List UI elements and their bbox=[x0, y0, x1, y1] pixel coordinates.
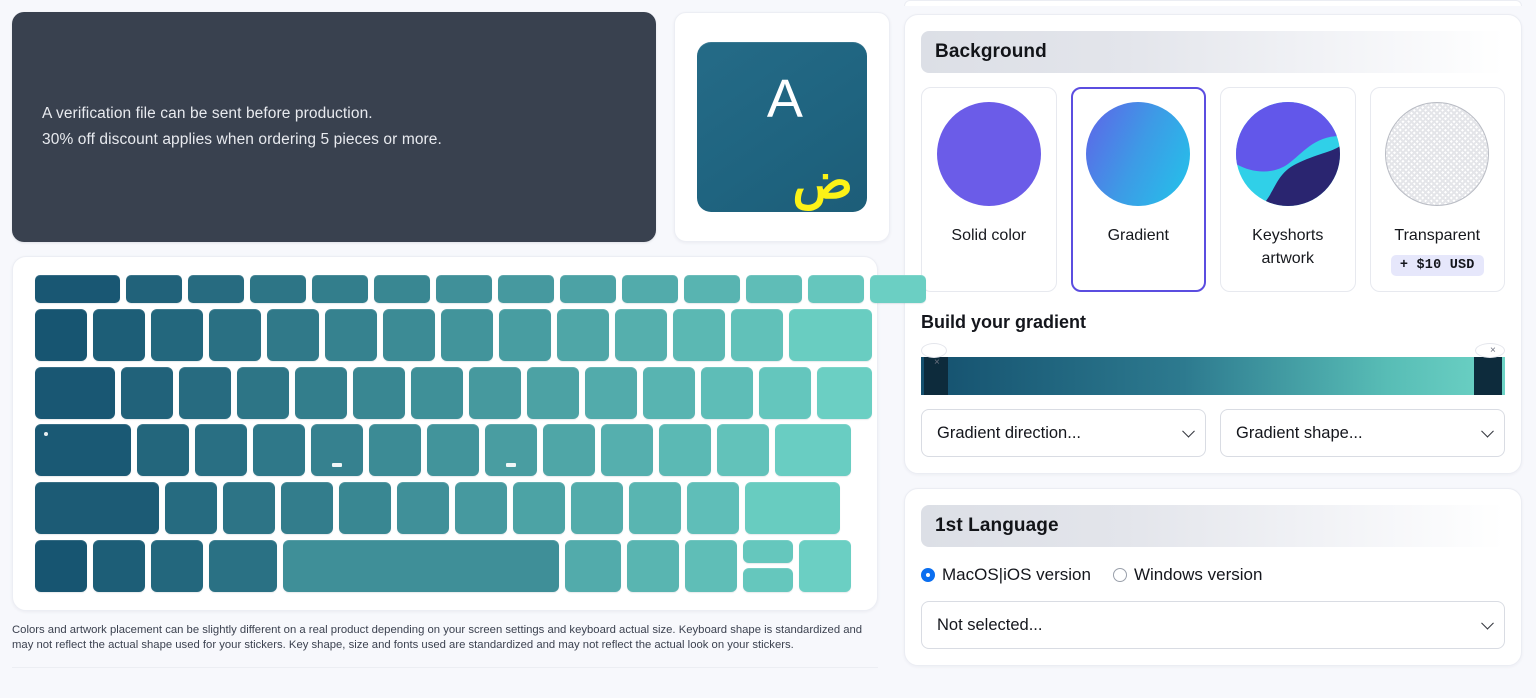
keyboard-key bbox=[571, 482, 623, 534]
keyboard-key bbox=[126, 275, 182, 303]
first-language-select[interactable]: Not selected... bbox=[921, 601, 1505, 649]
keyboard-key bbox=[151, 540, 203, 592]
background-option-solid-color[interactable]: Solid color bbox=[921, 87, 1057, 292]
keyboard-key bbox=[627, 540, 679, 592]
keyboard-key bbox=[485, 424, 537, 476]
notice-line-2: 30% off discount applies when ordering 5… bbox=[42, 127, 626, 153]
transparent-price-badge: + $10 USD bbox=[1391, 255, 1484, 276]
keyboard-row-function bbox=[35, 275, 855, 303]
background-option-label: Keyshorts artwork bbox=[1229, 224, 1347, 270]
key-homing-bar-icon bbox=[332, 463, 342, 467]
keyboard-key bbox=[499, 309, 551, 361]
background-panel-title: Background bbox=[921, 31, 1505, 73]
keyboard-key bbox=[151, 309, 203, 361]
preview-column: A verification file can be sent before p… bbox=[0, 0, 890, 698]
keyboard-key bbox=[35, 309, 87, 361]
keyboard-key bbox=[585, 367, 637, 419]
os-version-radio-group: MacOS|iOS version Windows version bbox=[921, 565, 1505, 585]
previous-panel-edge bbox=[904, 0, 1522, 6]
keyboard-key bbox=[684, 275, 740, 303]
keyboard-key bbox=[165, 482, 217, 534]
keyboard-key bbox=[250, 275, 306, 303]
keyboard-key bbox=[455, 482, 507, 534]
gradient-select-row: Gradient direction... Gradient shape... bbox=[921, 409, 1505, 457]
keyboard-key bbox=[374, 275, 430, 303]
keyboard-key bbox=[137, 424, 189, 476]
gradient-builder-title: Build your gradient bbox=[921, 312, 1505, 333]
keyboard-key bbox=[469, 367, 521, 419]
key-indicator-dot-icon bbox=[44, 432, 48, 436]
radio-label: MacOS|iOS version bbox=[942, 565, 1091, 585]
keyboard-key bbox=[745, 482, 840, 534]
keyboard-key bbox=[121, 367, 173, 419]
keyboard-key bbox=[35, 540, 87, 592]
keyboard-key bbox=[35, 367, 115, 419]
keyboard-key bbox=[557, 309, 609, 361]
keyboard-key bbox=[717, 424, 769, 476]
gradient-swatch-icon bbox=[1086, 102, 1190, 206]
preview-top-row: A verification file can be sent before p… bbox=[12, 12, 878, 242]
keyboard-key bbox=[673, 309, 725, 361]
keyboard-row-home-letter bbox=[35, 424, 855, 476]
keyboard-row-top-letter bbox=[35, 367, 855, 419]
keyboard-key-down bbox=[743, 568, 793, 592]
keyboard-key bbox=[397, 482, 449, 534]
keyboard-key bbox=[195, 424, 247, 476]
keyboard-key bbox=[441, 309, 493, 361]
background-option-gradient[interactable]: Gradient bbox=[1071, 87, 1207, 292]
keycap-preview: A ض bbox=[697, 42, 867, 212]
keyboard-key bbox=[353, 367, 405, 419]
keyboard-key bbox=[325, 309, 377, 361]
keyboard-preview bbox=[12, 256, 878, 611]
keyboard-key bbox=[93, 309, 145, 361]
keyboard-key bbox=[601, 424, 653, 476]
keyboard-key-up bbox=[743, 540, 793, 564]
keyboard-key bbox=[411, 367, 463, 419]
keyboard-key bbox=[527, 367, 579, 419]
gradient-preview-bar[interactable] bbox=[921, 357, 1505, 395]
keyboard-key bbox=[685, 540, 737, 592]
keyboard-row-number bbox=[35, 309, 855, 361]
section-divider bbox=[12, 667, 878, 668]
keyboard-key bbox=[817, 367, 872, 419]
keyboard-key bbox=[209, 309, 261, 361]
keyboard-key bbox=[188, 275, 244, 303]
background-option-label: Transparent bbox=[1394, 224, 1480, 247]
radio-label: Windows version bbox=[1134, 565, 1263, 585]
radio-item-macos-ios[interactable]: MacOS|iOS version bbox=[921, 565, 1091, 585]
keyboard-key bbox=[295, 367, 347, 419]
keyboard-key bbox=[383, 309, 435, 361]
keyboard-key bbox=[339, 482, 391, 534]
keyboard-key bbox=[759, 367, 811, 419]
radio-item-windows[interactable]: Windows version bbox=[1113, 565, 1263, 585]
configurator-page: A verification file can be sent before p… bbox=[0, 0, 1536, 698]
gradient-stop-handle-end[interactable] bbox=[1474, 357, 1502, 395]
keyboard-key bbox=[179, 367, 231, 419]
keyboard-key bbox=[701, 367, 753, 419]
keyboard-key bbox=[267, 309, 319, 361]
keyboard-key bbox=[560, 275, 616, 303]
transparent-swatch-icon bbox=[1385, 102, 1489, 206]
keycap-alt-glyph: ض bbox=[793, 156, 853, 206]
keyboard-key bbox=[223, 482, 275, 534]
background-option-list: Solid color Gradient bbox=[921, 87, 1505, 292]
notice-line-1: A verification file can be sent before p… bbox=[42, 101, 626, 127]
gradient-builder[interactable]: × × bbox=[921, 343, 1505, 395]
keyboard-row-modifier bbox=[35, 540, 855, 592]
keyboard-key bbox=[311, 424, 363, 476]
background-panel: Background Solid color Gradient bbox=[904, 14, 1522, 474]
keycap-main-glyph: A bbox=[767, 72, 803, 126]
keyboard-key bbox=[659, 424, 711, 476]
first-language-select-wrap: Not selected... bbox=[921, 601, 1505, 649]
background-option-label: Gradient bbox=[1108, 224, 1169, 247]
keyboard-key bbox=[746, 275, 802, 303]
keyboard-key bbox=[369, 424, 421, 476]
keyboard-key bbox=[622, 275, 678, 303]
radio-button-macos-ios[interactable] bbox=[921, 568, 935, 582]
keyboard-key bbox=[799, 540, 851, 592]
first-language-panel: 1st Language MacOS|iOS version Windows v… bbox=[904, 488, 1522, 666]
keyboard-key bbox=[312, 275, 368, 303]
gradient-shape-select[interactable]: Gradient shape... bbox=[1220, 409, 1505, 457]
keyboard-key bbox=[498, 275, 554, 303]
gradient-shape-wrap: Gradient shape... bbox=[1220, 409, 1505, 457]
keyboard-key bbox=[35, 275, 120, 303]
keyboard-key bbox=[209, 540, 277, 592]
keyboard-key bbox=[870, 275, 926, 303]
background-option-keyshorts-artwork[interactable]: Keyshorts artwork bbox=[1220, 87, 1356, 292]
production-notice: A verification file can be sent before p… bbox=[12, 12, 656, 242]
keyboard-key bbox=[643, 367, 695, 419]
keyboard-key bbox=[775, 424, 851, 476]
keyboard-key bbox=[253, 424, 305, 476]
preview-disclaimer: Colors and artwork placement can be slig… bbox=[12, 623, 878, 654]
keyboard-key bbox=[687, 482, 739, 534]
keyboard-key bbox=[789, 309, 872, 361]
options-column: Background Solid color Gradient bbox=[890, 0, 1536, 698]
key-preview-card: A ض bbox=[674, 12, 890, 242]
first-language-panel-title: 1st Language bbox=[921, 505, 1505, 547]
keyshorts-artwork-swatch-icon bbox=[1236, 102, 1340, 206]
background-option-label: Solid color bbox=[951, 224, 1026, 247]
keyboard-arrow-cluster bbox=[743, 540, 793, 592]
keyboard-key bbox=[281, 482, 333, 534]
keyboard-key bbox=[629, 482, 681, 534]
keyboard-key bbox=[35, 424, 131, 476]
gradient-stop-delete-icon[interactable]: × bbox=[1475, 343, 1505, 358]
key-homing-bar-icon bbox=[506, 463, 516, 467]
keyboard-key bbox=[513, 482, 565, 534]
keyboard-key bbox=[731, 309, 783, 361]
background-option-transparent[interactable]: Transparent + $10 USD bbox=[1370, 87, 1506, 292]
space-key bbox=[283, 540, 559, 592]
keyboard-key bbox=[615, 309, 667, 361]
keyboard-key bbox=[237, 367, 289, 419]
keyboard-key bbox=[436, 275, 492, 303]
gradient-direction-wrap: Gradient direction... bbox=[921, 409, 1206, 457]
keyboard-key bbox=[35, 482, 159, 534]
radio-button-windows[interactable] bbox=[1113, 568, 1127, 582]
gradient-direction-select[interactable]: Gradient direction... bbox=[921, 409, 1206, 457]
keyboard-key bbox=[808, 275, 864, 303]
keyboard-key bbox=[565, 540, 621, 592]
solid-color-swatch-icon bbox=[937, 102, 1041, 206]
keyboard-key bbox=[543, 424, 595, 476]
keyboard-row-bottom-letter bbox=[35, 482, 855, 534]
keyboard-key bbox=[427, 424, 479, 476]
keyboard-key bbox=[93, 540, 145, 592]
gradient-stop-delete-icon[interactable]: × bbox=[921, 343, 947, 358]
